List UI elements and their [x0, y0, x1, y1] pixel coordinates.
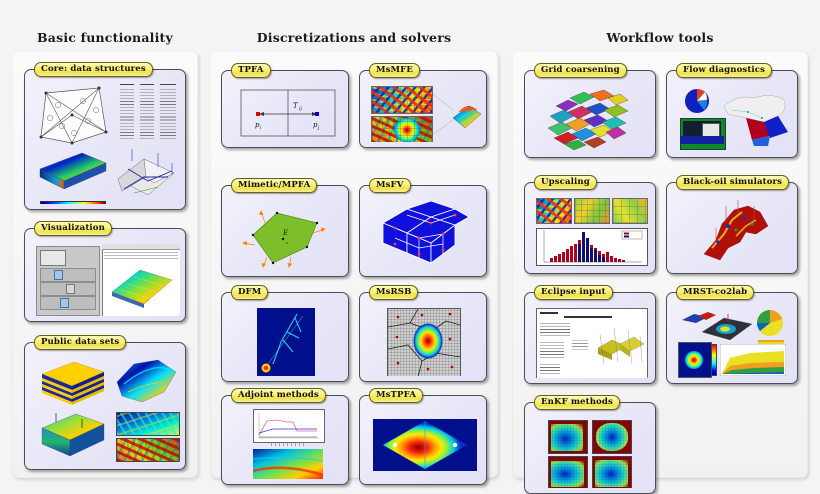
- card-label-msfv: MsFV: [369, 178, 411, 193]
- sleipner-box-model: [38, 410, 108, 462]
- reservoir-3d-view: [106, 262, 176, 310]
- two-point-stencil: T ij p i p j: [239, 88, 337, 140]
- card-label-mstpfa: MsTPFA: [369, 388, 423, 403]
- norne-field-model: [682, 200, 786, 268]
- card-public-data-sets[interactable]: Public data sets: [24, 342, 186, 470]
- figure-adjoint-methods: [227, 401, 343, 479]
- group-title-workflow-tools: Workflow tools: [512, 30, 808, 45]
- trapping-inventory-plot: [720, 344, 786, 376]
- card-core-data-structures[interactable]: Core: data structures: [24, 69, 186, 210]
- card-adjoint-methods[interactable]: Adjoint methods: [221, 395, 349, 485]
- objective-curves: [253, 409, 323, 441]
- figure-public-data-sets: [30, 348, 180, 464]
- svg-text:E: E: [282, 229, 288, 237]
- card-label-msmfe: MsMFE: [369, 63, 420, 78]
- card-eclipse-input[interactable]: Eclipse input: [524, 292, 656, 384]
- card-mrst-co2lab[interactable]: MRST-co2lab: [666, 292, 798, 384]
- card-label-visualization: Visualization: [34, 221, 112, 236]
- trapping-pie-chart: [754, 308, 788, 340]
- topography-model: [114, 358, 180, 408]
- card-label-upscaling: Upscaling: [534, 175, 597, 190]
- svg-text:j: j: [317, 125, 320, 131]
- permeability-histogram: [536, 228, 646, 264]
- card-label-enkf-methods: EnKF methods: [534, 395, 620, 410]
- card-label-eclipse-input: Eclipse input: [534, 285, 613, 300]
- card-label-mimetic-mpfa: Mimetic/MPFA: [231, 178, 317, 193]
- card-grid-coarsening[interactable]: Grid coarsening: [524, 70, 656, 158]
- figure-flow-diagnostics: [672, 76, 792, 152]
- card-enkf-methods[interactable]: EnKF methods: [524, 402, 656, 494]
- card-label-black-oil-simulators: Black-oil simulators: [676, 175, 789, 190]
- card-label-core-data-structures: Core: data structures: [34, 62, 153, 77]
- svg-text:i: i: [260, 125, 262, 131]
- group-discretizations-and-solvers: Discretizations and solvers TPFA T ij p …: [210, 30, 498, 478]
- eclipse-grid-plot: [592, 324, 646, 372]
- group-title-discretizations-and-solvers: Discretizations and solvers: [210, 30, 498, 45]
- triangulation-diagram: [36, 85, 112, 147]
- figure-black-oil-simulators: [672, 188, 792, 268]
- card-label-mrst-co2lab: MRST-co2lab: [676, 285, 754, 300]
- figure-tpfa: T ij p i p j: [227, 76, 343, 142]
- card-visualization[interactable]: Visualization: [24, 228, 186, 322]
- wireframe-faces: [114, 147, 180, 204]
- group-basic-functionality: Basic functionality Core: data structure…: [12, 30, 198, 478]
- multiscale-tpfa-pressure: [373, 419, 477, 471]
- card-label-public-data-sets: Public data sets: [34, 335, 126, 350]
- figure-mrst-co2lab: [672, 298, 792, 378]
- card-label-msrsb: MsRSB: [369, 285, 418, 300]
- card-msrsb[interactable]: MsRSB: [359, 292, 487, 382]
- coarse-partition-lines: [388, 309, 460, 376]
- card-dfm[interactable]: DFM: [221, 292, 349, 382]
- card-tpfa[interactable]: TPFA T ij p i p j: [221, 70, 349, 148]
- figure-core-data-structures: [30, 75, 180, 204]
- figure-grid-coarsening: [530, 76, 650, 152]
- card-mstpfa[interactable]: MsTPFA: [359, 395, 487, 485]
- card-msfv[interactable]: MsFV: [359, 185, 487, 277]
- figure-upscaling: [530, 188, 650, 268]
- group-title-basic-functionality: Basic functionality: [12, 30, 198, 45]
- figure-enkf-methods: [530, 408, 650, 488]
- card-label-tpfa: TPFA: [231, 63, 271, 78]
- card-flow-diagnostics[interactable]: Flow diagnostics: [666, 70, 798, 158]
- top-surface-grid: [698, 312, 756, 346]
- figure-mstpfa: [365, 401, 481, 479]
- polygonal-cell-normals: E c: [235, 201, 339, 271]
- sensitivity-field: [253, 449, 323, 479]
- card-label-grid-coarsening: Grid coarsening: [534, 63, 627, 78]
- card-label-flow-diagnostics: Flow diagnostics: [676, 63, 772, 78]
- figure-msfv: [365, 191, 481, 271]
- poster-canvas: Basic functionality Core: data structure…: [0, 0, 820, 489]
- dual-coarse-grid-cube: [373, 197, 477, 271]
- reservoir-slab: [36, 151, 108, 199]
- card-upscaling[interactable]: Upscaling: [524, 182, 656, 274]
- fracture-pressure-field: [257, 308, 315, 376]
- basis-function-surface: [431, 84, 481, 142]
- figure-dfm: [227, 298, 343, 376]
- card-label-adjoint-methods: Adjoint methods: [231, 388, 326, 403]
- figure-mimetic-mpfa: E c: [227, 191, 343, 271]
- figure-msmfe: [365, 76, 481, 142]
- svg-text:ij: ij: [299, 106, 302, 112]
- figure-msrsb: [365, 298, 481, 376]
- coarse-partition-blocks: [540, 84, 640, 152]
- figure-visualization: [30, 234, 180, 316]
- group-workflow-tools: Workflow tools Grid coarsening: [512, 30, 808, 478]
- card-mimetic-mpfa[interactable]: Mimetic/MPFA E: [221, 185, 349, 277]
- layered-model: [38, 360, 108, 408]
- sweep-region-map: [718, 88, 792, 150]
- card-msmfe[interactable]: MsMFE: [359, 70, 487, 148]
- figure-eclipse-input: [530, 298, 650, 378]
- card-black-oil-simulators[interactable]: Black-oil simulators: [666, 182, 798, 274]
- card-label-dfm: DFM: [231, 285, 268, 300]
